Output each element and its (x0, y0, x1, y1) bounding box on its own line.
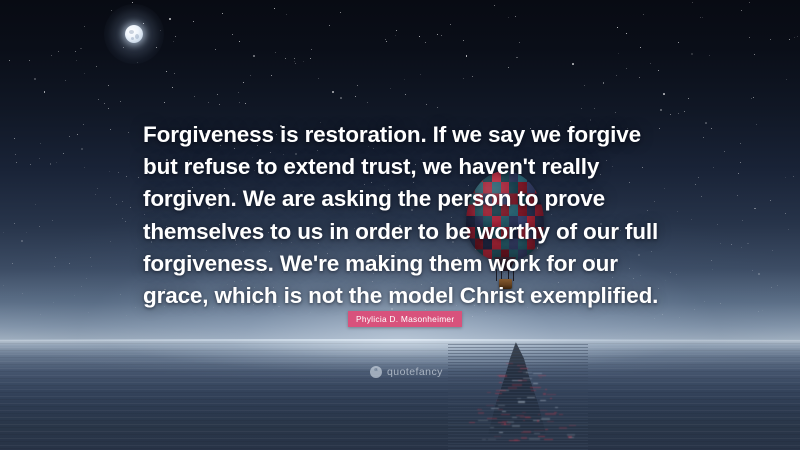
reflection-speck (547, 394, 556, 395)
reflection-speck (502, 411, 507, 412)
reflection-speck (559, 427, 566, 429)
reflection-speck (539, 377, 542, 378)
reflection-speck (518, 380, 527, 381)
quote-mark-icon: “ (370, 366, 382, 378)
reflection-speck (496, 400, 499, 401)
ocean-water (0, 340, 800, 450)
reflection-speck (469, 422, 475, 423)
reflection-speck (517, 398, 522, 399)
reflection-speck (541, 418, 550, 420)
reflection-speck (533, 383, 538, 384)
reflection-speck (508, 387, 517, 389)
reflection-speck (499, 382, 502, 383)
reflection-speck (527, 397, 535, 398)
reflection-speck (496, 390, 506, 391)
reflection-speck (540, 410, 547, 411)
reflection-speck (494, 436, 501, 437)
reflection-speck (538, 414, 541, 415)
reflection-speck (486, 405, 494, 406)
reflection-speck (523, 378, 532, 379)
reflection-speck (506, 363, 513, 364)
reflection-speck (482, 439, 486, 440)
reflection-speck (530, 387, 541, 388)
author-badge[interactable]: Phylicia D. Masonheimer (348, 311, 462, 327)
moon-icon (121, 21, 147, 47)
reflection-speck (499, 375, 507, 377)
reflection-speck (478, 420, 488, 421)
reflection-speck (544, 439, 553, 440)
reflection-speck (545, 429, 548, 430)
reflection-speck (487, 418, 498, 419)
reflection-speck (478, 412, 484, 414)
reflection-speck (512, 417, 517, 418)
reflection-speck (516, 415, 524, 416)
reflection-speck (538, 375, 546, 376)
reflection-speck (488, 439, 497, 440)
quote-text: Forgiveness is restoration. If we say we… (143, 119, 683, 312)
reflection-speck (497, 375, 500, 376)
reflection-speck (504, 423, 506, 425)
author-name: Phylicia D. Masonheimer (356, 314, 454, 324)
reflection-speck (550, 398, 553, 399)
reflection-speck (545, 389, 548, 390)
reflection-speck (559, 414, 563, 415)
moon-crater (135, 34, 139, 39)
watermark-brand: quotefancy (387, 366, 443, 378)
reflection-speck (512, 384, 522, 386)
reflection-speck (533, 373, 542, 374)
reflection-speck (569, 437, 574, 438)
reflection-speck (523, 420, 525, 421)
reflection-speck (498, 405, 505, 406)
reflection-speck (534, 433, 541, 434)
reflection-speck (498, 409, 503, 410)
reflection-speck (478, 409, 482, 410)
reflection-speck (523, 372, 532, 373)
reflection-speck (543, 393, 546, 395)
reflection-speck (537, 420, 539, 422)
quotefancy-watermark[interactable]: “ quotefancy (370, 366, 443, 378)
balloon-reflection (448, 342, 588, 450)
reflection-speck (518, 401, 525, 403)
reflection-speck (529, 438, 540, 440)
reflection-speck (512, 425, 519, 427)
reflection-speck (517, 365, 520, 366)
reflection-speck (522, 412, 526, 413)
reflection-speck (555, 407, 558, 408)
reflection-speck (487, 392, 491, 393)
reflection-speck (509, 423, 512, 424)
reflection-speck (569, 425, 576, 426)
reflection-speck (490, 427, 494, 428)
moon-crater (131, 37, 134, 40)
reflection-speck (521, 437, 527, 439)
quote-image-canvas: Forgiveness is restoration. If we say we… (0, 0, 800, 450)
reflection-speck (495, 393, 502, 394)
reflection-speck (534, 430, 544, 431)
reflection-speck (523, 431, 531, 432)
reflection-speck (499, 432, 504, 433)
reflection-speck (525, 417, 531, 418)
water-ripples (0, 340, 800, 450)
reflection-speck (518, 371, 522, 372)
reflection-speck (554, 412, 557, 413)
moon-crater (129, 30, 134, 34)
reflection-speck (531, 390, 536, 391)
reflection-speck (501, 414, 509, 415)
reflection-speck (540, 400, 546, 401)
reflection-speck (520, 368, 528, 369)
reflection-speck (567, 434, 575, 436)
reflection-speck (545, 413, 556, 415)
moon-disc (125, 25, 143, 43)
reflection-speck (509, 440, 520, 441)
reflection-speck (547, 421, 554, 422)
